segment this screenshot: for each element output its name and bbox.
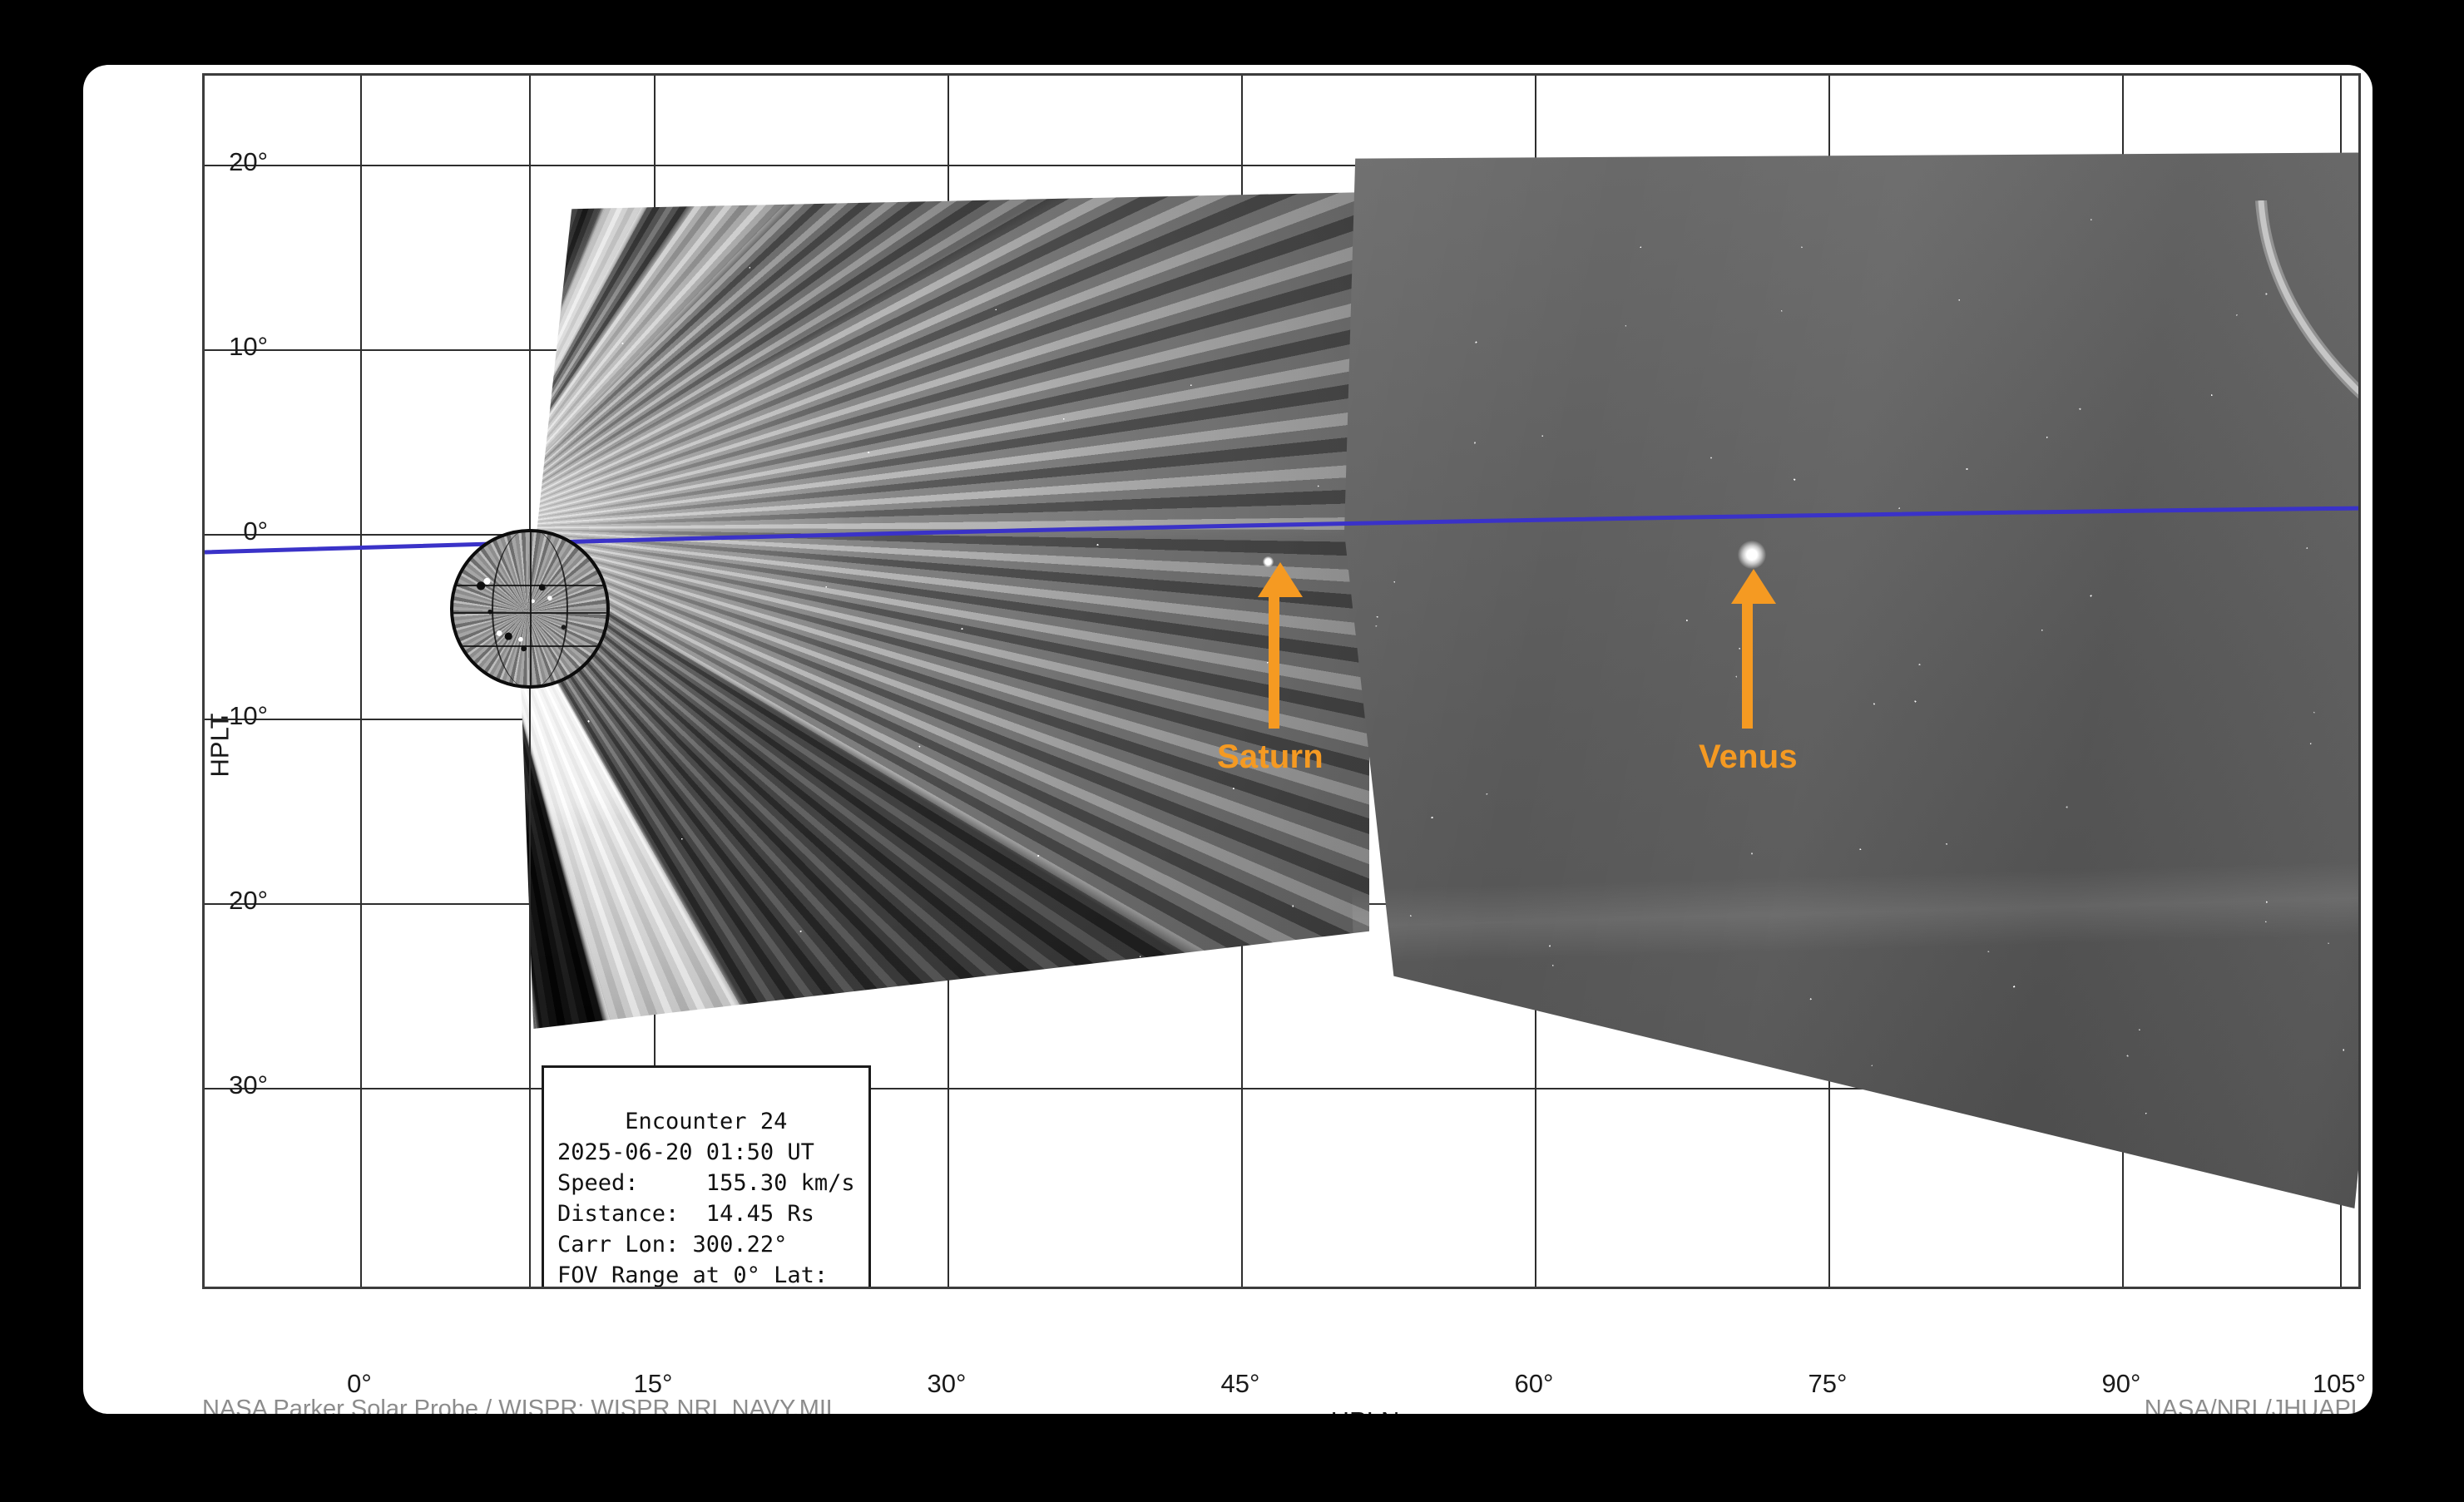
y-tick-label: 10° <box>229 332 268 362</box>
solar-meridian <box>492 529 568 689</box>
y-tick-mark <box>202 1088 205 1089</box>
y-tick-label: 30° <box>229 1070 268 1100</box>
saturn-arrow-head <box>1258 562 1303 597</box>
x-tick-label: 30° <box>928 1369 967 1399</box>
venus-label: Venus <box>1699 739 1798 776</box>
credit-right: NASA/NRL/JHUAPL <box>2145 1396 2364 1414</box>
saturn-label: Saturn <box>1217 739 1324 776</box>
infobox-carr-lon: Carr Lon: 300.22° <box>557 1230 855 1261</box>
x-axis-title: HPLN <box>1331 1406 1400 1414</box>
venus-point <box>1738 541 1766 569</box>
figure-card: Saturn Venus Encounter <box>83 65 2372 1414</box>
gridline-vertical <box>360 76 362 1287</box>
telemetry-infobox: Encounter 242025-06-20 01:50 UTSpeed: 15… <box>542 1065 871 1289</box>
y-tick-label: 0° <box>243 516 268 546</box>
saturn-arrow-shaft <box>1269 595 1279 729</box>
infobox-speed: Speed: 155.30 km/s <box>557 1168 855 1199</box>
annotation-saturn: Saturn <box>1257 562 1523 828</box>
y-tick-mark <box>202 534 205 536</box>
venus-arrow-shaft <box>1742 602 1753 729</box>
starfield-overlay-inner <box>521 192 1369 1032</box>
x-tick-label: 15° <box>634 1369 673 1399</box>
wispr-inner-panel <box>521 192 1369 1032</box>
venus-arrow-head <box>1731 569 1776 604</box>
x-tick-label: 90° <box>2102 1369 2141 1399</box>
infobox-fov-label: FOV Range at 0° Lat: <box>557 1261 855 1289</box>
x-tick-label: 45° <box>1221 1369 1260 1399</box>
credit-left: NASA Parker Solar Probe / WISPR; WISPR.N… <box>202 1396 839 1414</box>
infobox-distance: Distance: 14.45 Rs <box>557 1199 855 1230</box>
infobox-timestamp: 2025-06-20 01:50 UT <box>557 1138 855 1168</box>
y-tick-mark <box>202 349 205 351</box>
screenshot-root: Saturn Venus Encounter <box>0 0 2464 1502</box>
x-tick-label: 75° <box>1808 1369 1848 1399</box>
y-tick-label: 20° <box>229 147 268 177</box>
solar-disk-magnetogram <box>450 529 610 689</box>
y-tick-label: 20° <box>229 886 268 916</box>
x-tick-label: 60° <box>1515 1369 1554 1399</box>
y-tick-mark <box>202 165 205 166</box>
plot-area: Saturn Venus Encounter <box>202 73 2361 1289</box>
x-tick-label: 105° <box>2313 1369 2366 1399</box>
y-axis-title: HPLT <box>205 714 235 778</box>
x-tick-label: 0° <box>347 1369 372 1399</box>
annotation-venus: Venus <box>1730 569 1996 835</box>
infobox-title: Encounter 24 <box>557 1107 855 1138</box>
y-tick-mark <box>202 903 205 905</box>
